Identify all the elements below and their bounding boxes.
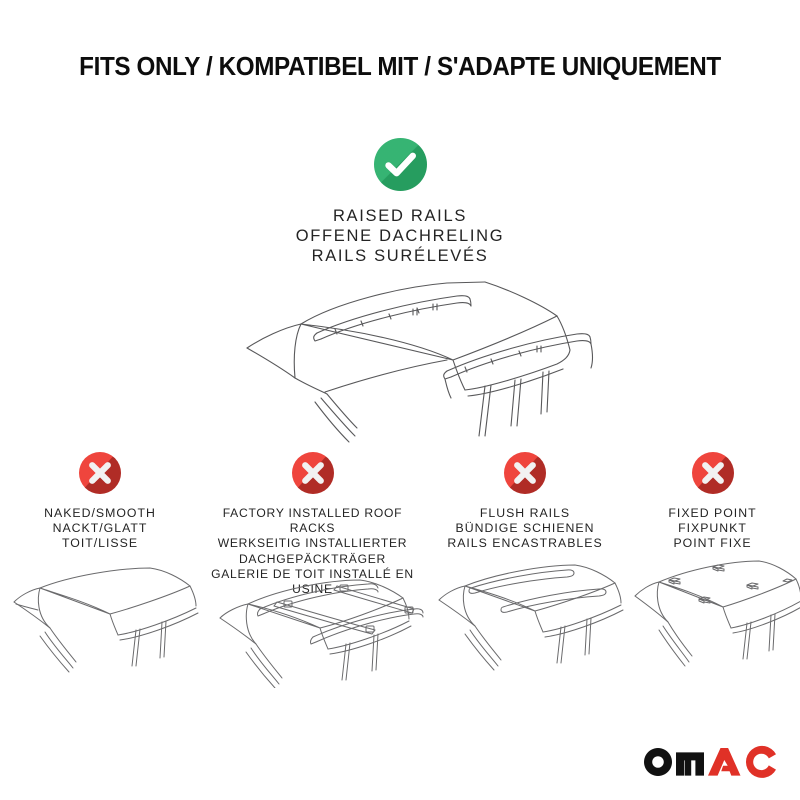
omac-letter-o [644,748,672,776]
omac-logo [640,744,778,780]
car-roof-flush-rails-drawing [425,552,625,672]
x-mark-glyph [504,452,546,494]
car-roof-raised-rails-illustration [185,276,625,452]
check-circle-icon [374,138,427,191]
incompatible-item-factory-roof-racks: FACTORY INSTALLED ROOF RACKS WERKSEITIG … [200,452,425,702]
compatible-label-line-fr: RAILS SURÉLEVÉS [0,246,800,266]
label-line-en: NAKED/SMOOTH [4,506,196,521]
omac-letter-m [676,752,704,775]
x-mark-glyph [79,452,121,494]
car-roof-naked-smooth-illustration [0,556,200,676]
incompatible-item-naked-smooth: NAKED/SMOOTH NACKT/GLATT TOIT/LISSE [0,452,200,702]
page-title: FITS ONLY / KOMPATIBEL MIT / S'ADAPTE UN… [20,53,780,82]
label-line-en: FACTORY INSTALLED ROOF RACKS [204,506,421,536]
compatible-label-line-de: OFFENE DACHRELING [0,226,800,246]
label-line-de: FIXPUNKT [629,521,796,536]
car-roof-flush-rails-illustration [425,552,625,672]
label-line-de: BÜNDIGE SCHIENEN [429,521,621,536]
car-roof-fixed-point-illustration [625,548,800,668]
car-roof-factory-roof-racks-drawing [200,564,425,688]
label-line-de-1: WERKSEITIG INSTALLIERTER [204,536,421,551]
car-roof-factory-roof-racks-illustration [200,564,425,688]
label-line-fr: RAILS ENCASTRABLES [429,536,621,551]
x-mark-glyph [692,452,734,494]
compatible-label: RAISED RAILS OFFENE DACHRELING RAILS SUR… [0,206,800,266]
x-mark-glyph [292,452,334,494]
label-line-en: FLUSH RAILS [429,506,621,521]
incompatible-item-flush-rails: FLUSH RAILS BÜNDIGE SCHIENEN RAILS ENCAS… [425,452,625,702]
x-circle-icon [692,452,734,494]
incompatible-label: FIXED POINT FIXPUNKT POINT FIXE [625,506,800,552]
incompatible-label: NAKED/SMOOTH NACKT/GLATT TOIT/LISSE [0,506,200,552]
car-roof-naked-smooth-drawing [0,556,200,676]
omac-letter-c [746,746,776,778]
x-circle-icon [292,452,334,494]
compatible-section: RAISED RAILS OFFENE DACHRELING RAILS SUR… [0,138,800,266]
omac-logo-wordmark [640,744,778,780]
omac-letter-a [708,748,741,776]
compatible-label-line-en: RAISED RAILS [0,206,800,226]
car-roof-raised-rails-drawing [185,276,625,452]
incompatible-item-fixed-point: FIXED POINT FIXPUNKT POINT FIXE [625,452,800,702]
incompatible-section: NAKED/SMOOTH NACKT/GLATT TOIT/LISSE [0,452,800,702]
check-mark-glyph [374,138,427,191]
label-line-de: NACKT/GLATT [4,521,196,536]
incompatible-label: FLUSH RAILS BÜNDIGE SCHIENEN RAILS ENCAS… [425,506,625,552]
label-line-en: FIXED POINT [629,506,796,521]
x-circle-icon [79,452,121,494]
x-circle-icon [504,452,546,494]
label-line-fr: TOIT/LISSE [4,536,196,551]
car-roof-fixed-point-drawing [625,548,800,668]
